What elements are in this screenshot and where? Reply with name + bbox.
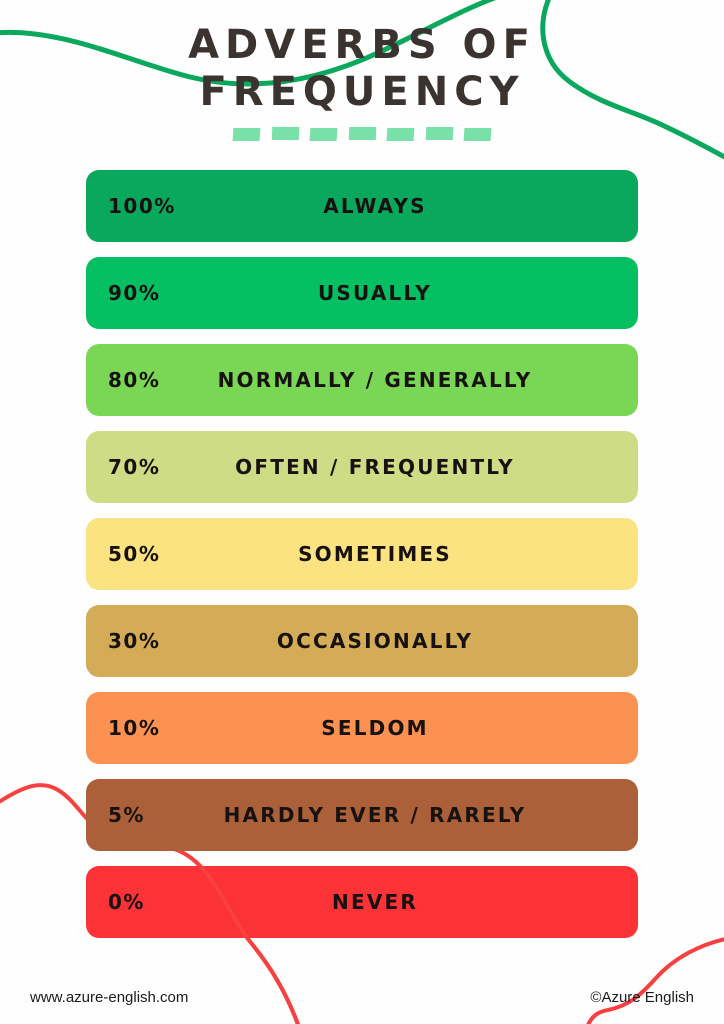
bar-adverb-label: NEVER: [86, 890, 638, 914]
frequency-bar-always: 100% ALWAYS: [86, 170, 638, 242]
poster-header: ADVERBS OF FREQUENCY: [0, 0, 724, 141]
underline-dash: [348, 127, 375, 140]
bar-percent-label: 50%: [108, 542, 160, 566]
underline-dash: [310, 128, 338, 141]
underline-dash: [387, 128, 415, 141]
underline-dash: [271, 127, 298, 140]
frequency-bar-seldom: 10% SELDOM: [86, 692, 638, 764]
frequency-bar-normally-generally: 80% NORMALLY / GENERALLY: [86, 344, 638, 416]
bar-percent-label: 80%: [108, 368, 160, 392]
title-line-2: FREQUENCY: [0, 69, 724, 116]
website-url[interactable]: www.azure-english.com: [30, 989, 188, 1006]
page-title: ADVERBS OF FREQUENCY: [0, 22, 724, 116]
bar-percent-label: 5%: [108, 803, 145, 827]
bar-adverb-label: HARDLY EVER / RARELY: [86, 803, 638, 827]
frequency-bar-often-frequently: 70% OFTEN / FREQUENTLY: [86, 431, 638, 503]
copyright-notice: ©Azure English: [590, 989, 694, 1006]
bar-percent-label: 90%: [108, 281, 160, 305]
frequency-bar-sometimes: 50% SOMETIMES: [86, 518, 638, 590]
bar-percent-label: 100%: [108, 194, 176, 218]
bar-percent-label: 30%: [108, 629, 160, 653]
bar-adverb-label: OCCASIONALLY: [86, 629, 638, 653]
infographic-poster: ADVERBS OF FREQUENCY 100% ALWAYS 90% USU…: [0, 0, 724, 1024]
poster-footer: www.azure-english.com ©Azure English: [0, 989, 724, 1006]
bar-adverb-label: NORMALLY / GENERALLY: [86, 368, 638, 392]
frequency-bar-occasionally: 30% OCCASIONALLY: [86, 605, 638, 677]
bar-adverb-label: USUALLY: [86, 281, 638, 305]
underline-dash: [464, 128, 492, 141]
red-squiggle-bottomright: [586, 938, 724, 1024]
frequency-bar-hardly-ever-rarely: 5% HARDLY EVER / RARELY: [86, 779, 638, 851]
frequency-scale-bars: 100% ALWAYS 90% USUALLY 80% NORMALLY / G…: [0, 170, 724, 938]
bar-percent-label: 0%: [108, 890, 145, 914]
frequency-bar-usually: 90% USUALLY: [86, 257, 638, 329]
underline-dash: [233, 128, 261, 141]
bar-adverb-label: SOMETIMES: [86, 542, 638, 566]
title-dashed-underline: [233, 128, 491, 141]
frequency-bar-never: 0% NEVER: [86, 866, 638, 938]
title-line-1: ADVERBS OF: [188, 22, 536, 68]
underline-dash: [425, 127, 452, 140]
bar-percent-label: 70%: [108, 455, 160, 479]
bar-adverb-label: SELDOM: [86, 716, 638, 740]
bar-adverb-label: OFTEN / FREQUENTLY: [86, 455, 638, 479]
bar-percent-label: 10%: [108, 716, 160, 740]
